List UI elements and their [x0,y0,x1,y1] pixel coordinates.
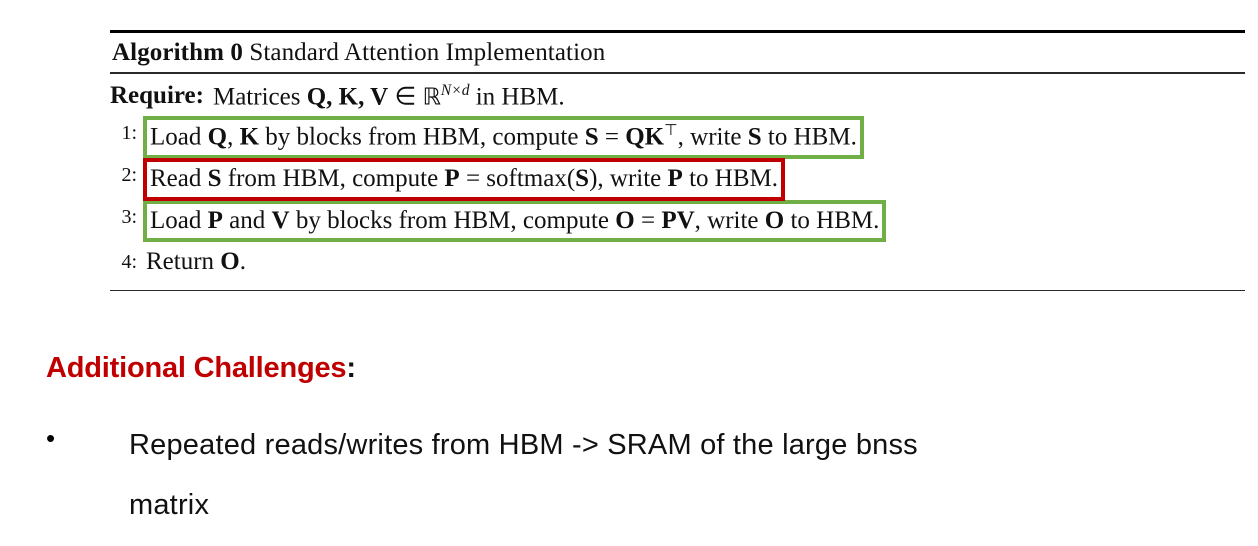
step-4-number: 4: [110,245,143,275]
algorithm-step-4: 4: Return O. Return O. [110,245,1245,280]
step-3-text-highlighted: Load P and V by blocks from HBM, compute… [143,200,886,243]
challenges-heading-colon: : [346,352,355,384]
algorithm-bottom-rule [110,290,1245,292]
algorithm-title: Algorithm 0 Standard Attention Implement… [110,33,1245,72]
require-real-set: ℝ [422,83,440,110]
bullet-line-2: matrix [129,475,1226,535]
require-label: Require: [110,80,204,113]
step-3-number: 3: [110,200,143,230]
algorithm-title-number: 0 [230,39,243,66]
list-item: • Repeated reads/writes from HBM -> SRAM… [46,415,1226,535]
require-matrices: Q, K, V [307,83,389,110]
algorithm-block: Algorithm 0 Standard Attention Implement… [110,30,1245,291]
algorithm-step-1: 1: Load Q, K by blocks from HBM, compute… [110,116,1245,159]
bullet-text-body: Repeated reads/writes from HBM -> SRAM o… [62,415,1226,535]
algorithm-require-line: Require: Matrices Q, K, V ∈ ℝN×d in HBM. [110,80,1245,115]
require-membership: ∈ [388,83,422,110]
require-dimension-superscript: N×d [441,82,470,99]
step-2-text-highlighted: Read S from HBM, compute P = softmax(S),… [143,158,785,201]
step-1-text-highlighted: Load Q, K by blocks from HBM, compute S … [143,116,864,159]
bullet-icon: • [46,415,62,461]
algorithm-steps: Require: Matrices Q, K, V ∈ ℝN×d in HBM.… [110,74,1245,286]
require-text: Matrices Q, K, V ∈ ℝN×d in HBM. [204,80,568,115]
algorithm-step-2: 2: Read S from HBM, compute P = softmax(… [110,158,1245,201]
step-1-number: 1: [110,116,143,146]
require-text-post: in HBM. [469,83,564,110]
algorithm-step-3: 3: Load P and V by blocks from HBM, comp… [110,200,1245,243]
step-4-text: Return O. Return O. [143,245,249,280]
algorithm-title-description: Standard Attention Implementation [249,39,605,66]
challenges-heading-text: Additional Challenges [46,352,346,384]
algorithm-title-keyword: Algorithm [112,39,224,66]
require-text-pre: Matrices [213,83,307,110]
step-2-number: 2: [110,158,143,188]
challenges-heading: Additional Challenges: [46,352,356,385]
bullet-line-1: Repeated reads/writes from HBM -> SRAM o… [129,415,1226,475]
bullet-list: • Repeated reads/writes from HBM -> SRAM… [46,415,1226,535]
